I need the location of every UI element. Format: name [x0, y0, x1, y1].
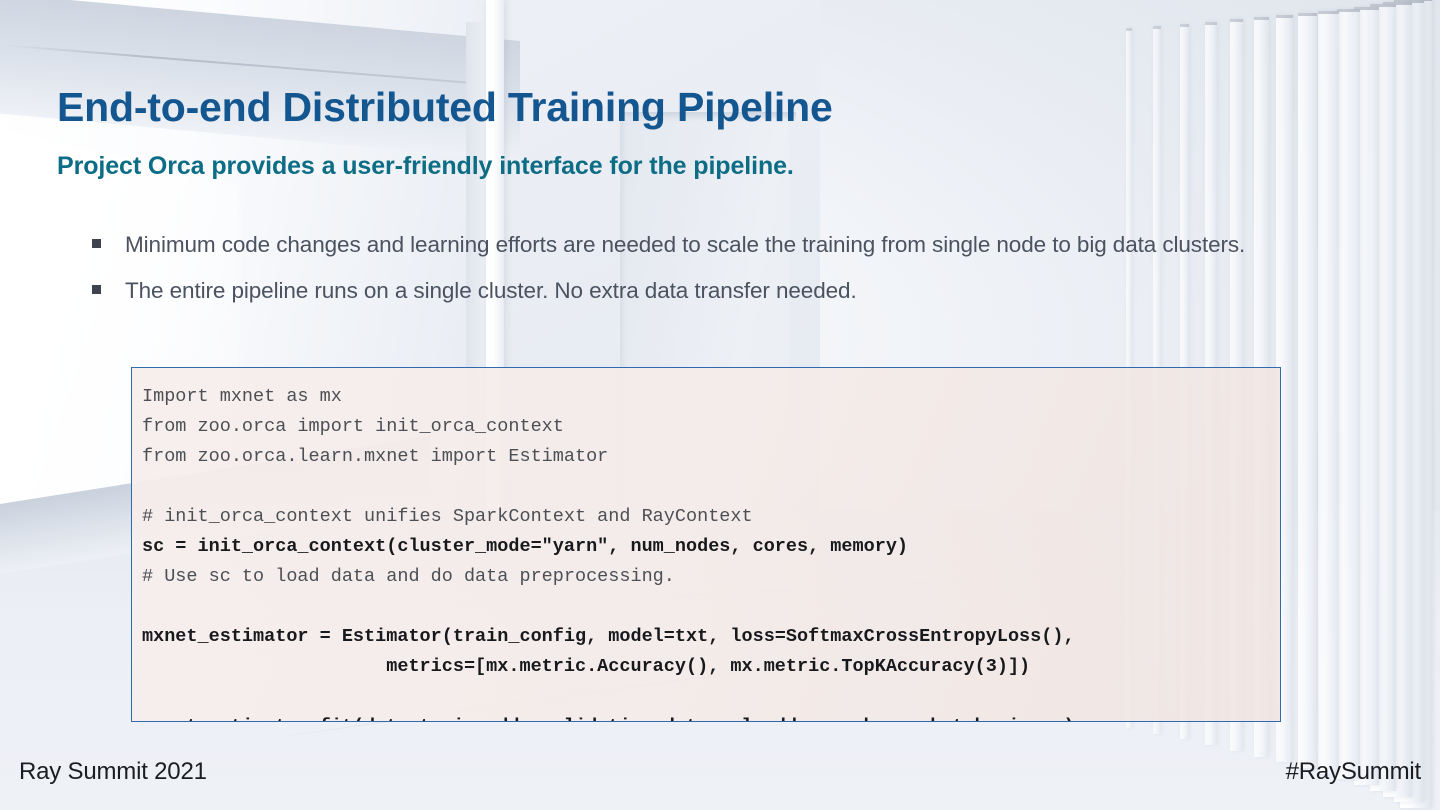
code-line: # Use sc to load data and do data prepro…: [142, 562, 1280, 592]
slide-title: End-to-end Distributed Training Pipeline: [57, 84, 833, 131]
colonnade-fin: [1318, 11, 1339, 774]
slide: End-to-end Distributed Training Pipeline…: [0, 0, 1440, 810]
bullet-square-icon: [92, 285, 101, 294]
bullet-item: Minimum code changes and learning effort…: [92, 228, 1360, 261]
code-body: Import mxnet as mxfrom zoo.orca import i…: [142, 382, 1280, 722]
code-line: sc = init_orca_context(cluster_mode="yar…: [142, 532, 1280, 562]
colonnade-fin: [1337, 9, 1360, 780]
bullet-text: The entire pipeline runs on a single clu…: [125, 278, 857, 303]
bullet-text: Minimum code changes and learning effort…: [125, 232, 1245, 257]
footer-event-name: Ray Summit 2021: [19, 758, 207, 786]
bullet-item: The entire pipeline runs on a single clu…: [92, 274, 1360, 307]
code-blank-line: [142, 472, 1280, 502]
code-line: mxnet_estimator = Estimator(train_config…: [142, 622, 1280, 652]
code-line: mxnet_estimator.fit(data=train_rdd, vali…: [142, 712, 1280, 722]
code-blank-line: [142, 682, 1280, 712]
footer-hashtag: #RaySummit: [1286, 758, 1421, 786]
bullet-square-icon: [92, 239, 101, 248]
code-line: metrics=[mx.metric.Accuracy(), mx.metric…: [142, 652, 1280, 682]
code-line: from zoo.orca import init_orca_context: [142, 412, 1280, 442]
code-block: Import mxnet as mxfrom zoo.orca import i…: [131, 367, 1281, 722]
code-line: # init_orca_context unifies SparkContext…: [142, 502, 1280, 532]
code-line: from zoo.orca.learn.mxnet import Estimat…: [142, 442, 1280, 472]
code-line: Import mxnet as mx: [142, 382, 1280, 412]
code-blank-line: [142, 592, 1280, 622]
slide-subtitle: Project Orca provides a user-friendly in…: [57, 152, 794, 181]
bullet-list: Minimum code changes and learning effort…: [92, 228, 1360, 320]
colonnade-fin: [1298, 13, 1317, 768]
